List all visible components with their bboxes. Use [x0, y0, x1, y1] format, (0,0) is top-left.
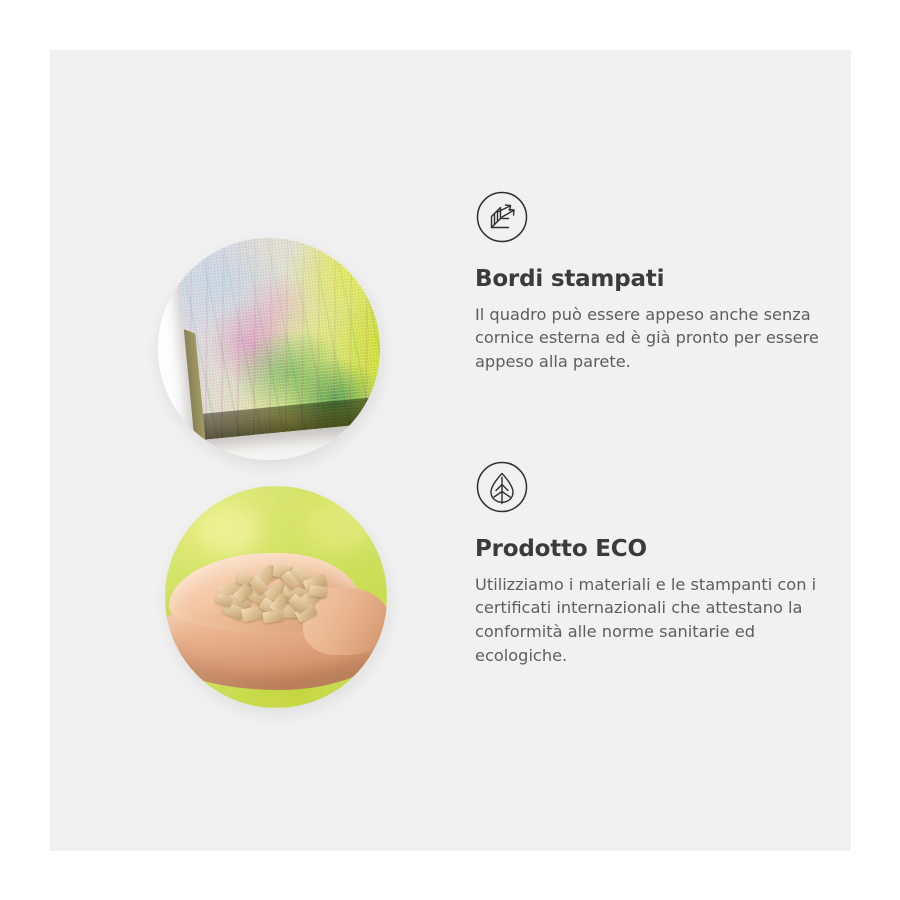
- feature-title: Bordi stampati: [475, 266, 855, 294]
- content-panel: Bordi stampati Il quadro può essere appe…: [50, 50, 851, 851]
- canvas-print-corner-photo: [158, 238, 380, 460]
- printed-edges-icon: [475, 190, 529, 244]
- leaf-icon: [475, 460, 529, 514]
- wood-chips-pile: [214, 553, 343, 628]
- feature-title: Prodotto ECO: [475, 536, 855, 564]
- feature-content-prodotto-eco: Prodotto ECO Utilizziamo i materiali e l…: [475, 460, 855, 668]
- feature-media-prodotto-eco: [155, 460, 395, 700]
- feature-prodotto-eco: Prodotto ECO Utilizziamo i materiali e l…: [155, 460, 855, 740]
- wood-chip: [308, 585, 327, 598]
- bokeh-spot: [303, 499, 373, 551]
- hands-holding-wood-chips-photo: [165, 486, 387, 708]
- feature-content-bordi-stampati: Bordi stampati Il quadro può essere appe…: [475, 190, 855, 374]
- feature-media-bordi-stampati: [155, 190, 395, 430]
- feature-bordi-stampati: Bordi stampati Il quadro può essere appe…: [155, 190, 855, 470]
- wood-chip: [262, 610, 283, 624]
- feature-body: Il quadro può essere appeso anche senza …: [475, 303, 847, 374]
- bokeh-spot: [201, 508, 259, 554]
- canvas-artwork: [175, 238, 380, 441]
- feature-body: Utilizziamo i materiali e le stampanti c…: [475, 573, 847, 668]
- page-root: Bordi stampati Il quadro può essere appe…: [0, 0, 900, 900]
